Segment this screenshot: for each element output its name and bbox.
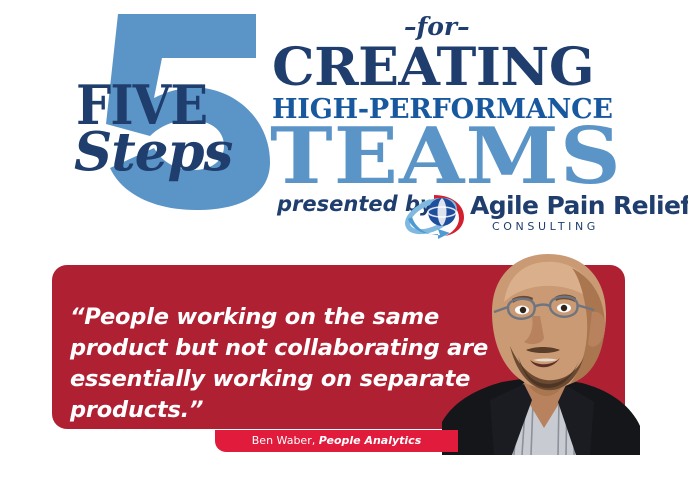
steps-wordmark: Steps xyxy=(74,126,232,179)
quote-attribution-text: Ben Waber, People Analytics xyxy=(215,430,458,452)
agile-pain-relief-logo[interactable]: Agile Pain Relief CONSULTING xyxy=(404,191,688,243)
infographic-header: FIVE Steps –for– CREATING HIGH-PERFORMAN… xyxy=(0,0,688,252)
creating-headline: CREATING xyxy=(272,42,594,94)
brand-subtitle: CONSULTING xyxy=(492,221,688,232)
ben-waber-portrait xyxy=(432,250,668,455)
quote-attribution-bar: Ben Waber, People Analytics xyxy=(215,430,458,452)
agile-pain-relief-logo-text: Agile Pain Relief CONSULTING xyxy=(470,193,688,232)
globe-swoosh-logo-icon xyxy=(404,191,466,239)
brand-name: Agile Pain Relief xyxy=(470,193,688,218)
bottom-edge-spacer xyxy=(0,466,688,478)
quote-publication: People Analytics xyxy=(319,434,422,447)
for-label: –for– xyxy=(404,14,470,39)
quote-author: Ben Waber, xyxy=(252,434,315,447)
quote-text: “People working on the same product but … xyxy=(70,302,490,426)
teams-headline: TEAMS xyxy=(270,118,622,196)
